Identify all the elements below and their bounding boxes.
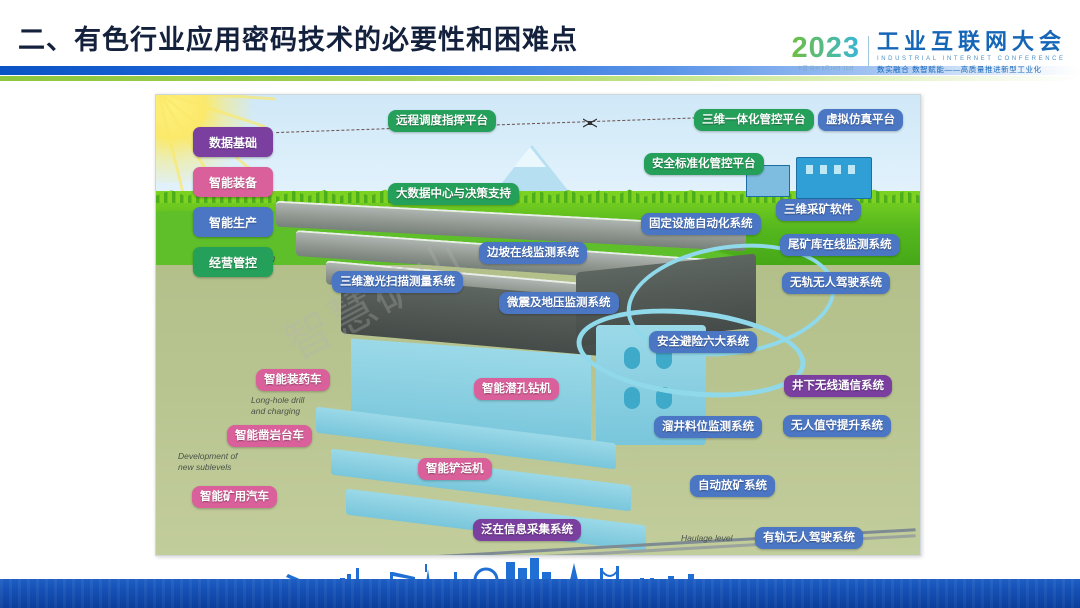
callout-label-text: 固定设施自动化系统 xyxy=(649,218,753,230)
callout-label-text: 智能潜孔钻机 xyxy=(482,383,551,395)
logo-year-block: 2023 中国·常州 8月14日-15日 xyxy=(791,34,860,72)
smart-mine-diagram: 智慧矿山 Caved hanging wall Long-hole drill … xyxy=(155,94,921,556)
callout-label[interactable]: 虚拟仿真平台 xyxy=(818,109,903,131)
logo-name-en: INDUSTRIAL INTERNET CONFERENCE xyxy=(877,56,1066,62)
page-title: 二、有色行业应用密码技术的必要性和困难点 xyxy=(18,18,578,57)
callout-label-text: 无人值守提升系统 xyxy=(791,420,883,432)
mountain-snow-cap xyxy=(514,147,546,167)
callout-label[interactable]: 固定设施自动化系统 xyxy=(641,213,761,235)
legend-chip-label: 智能生产 xyxy=(209,214,257,231)
callout-label[interactable]: 自动放矿系统 xyxy=(690,475,775,497)
callout-label-text: 三维一体化管控平台 xyxy=(702,114,806,126)
callout-label-text: 智能矿用汽车 xyxy=(200,491,269,503)
callout-label[interactable]: 尾矿库在线监测系统 xyxy=(780,234,900,256)
legend-chip-3[interactable]: 经营管控 xyxy=(193,247,273,277)
legend-chip-label: 智能装备 xyxy=(209,174,257,191)
shaft-window xyxy=(624,387,640,409)
footer-skyline-band xyxy=(0,556,1080,608)
callout-label-text: 智能凿岩台车 xyxy=(235,430,304,442)
building-window xyxy=(820,165,827,174)
callout-label-text: 微震及地压监测系统 xyxy=(507,297,611,309)
callout-label[interactable]: 智能装药车 xyxy=(256,369,330,391)
callout-label-text: 大数据中心与决策支持 xyxy=(396,188,511,200)
callout-label[interactable]: 无轨无人驾驶系统 xyxy=(782,272,890,294)
callout-label-text: 远程调度指挥平台 xyxy=(396,115,488,127)
logo-year: 2023 xyxy=(791,34,860,63)
callout-label-text: 有轨无人驾驶系统 xyxy=(763,532,855,544)
callout-label-text: 井下无线通信系统 xyxy=(792,380,884,392)
callout-label-text: 安全避险六大系统 xyxy=(657,336,749,348)
callout-label[interactable]: 大数据中心与决策支持 xyxy=(388,183,519,205)
callout-label[interactable]: 智能凿岩台车 xyxy=(227,425,312,447)
logo-name-block: 工业互联网大会 INDUSTRIAL INTERNET CONFERENCE 数… xyxy=(877,31,1066,75)
building-window xyxy=(806,165,813,174)
callout-label[interactable]: 三维采矿软件 xyxy=(776,199,861,221)
legend-chip-label: 经营管控 xyxy=(209,254,257,271)
callout-label-text: 智能装药车 xyxy=(264,374,322,386)
callout-label[interactable]: 三维一体化管控平台 xyxy=(694,109,814,131)
callout-label[interactable]: 智能矿用汽车 xyxy=(192,486,277,508)
legend-chip-2[interactable]: 智能生产 xyxy=(193,207,273,237)
callout-label-text: 边坡在线监测系统 xyxy=(487,247,579,259)
logo-name-cn: 工业互联网大会 xyxy=(877,31,1066,53)
callout-label[interactable]: 溜井料位监测系统 xyxy=(654,416,762,438)
callout-label-text: 智能铲运机 xyxy=(426,463,484,475)
callout-label-text: 自动放矿系统 xyxy=(698,480,767,492)
header-rule-green xyxy=(0,76,1080,81)
callout-label[interactable]: 泛在信息采集系统 xyxy=(473,519,581,541)
caption-new-sublevels: Development of new sublevels xyxy=(178,451,238,472)
slide-root: 二、有色行业应用密码技术的必要性和困难点 2023 中国·常州 8月14日-15… xyxy=(0,0,1080,608)
logo-divider xyxy=(868,36,869,70)
callout-label-text: 虚拟仿真平台 xyxy=(826,114,895,126)
logo-slogan: 数实融合 数智赋能——高质量推进新型工业化 xyxy=(877,64,1066,75)
legend-chip-label: 数据基础 xyxy=(209,134,257,151)
caption-long-hole-drill: Long-hole drill and charging xyxy=(251,395,304,416)
caption-haulage-level: Haulage level xyxy=(681,533,733,544)
surface-plant-building xyxy=(796,157,872,199)
callout-label[interactable]: 边坡在线监测系统 xyxy=(479,242,587,264)
callout-label[interactable]: 微震及地压监测系统 xyxy=(499,292,619,314)
callout-label-text: 安全标准化管控平台 xyxy=(652,158,756,170)
callout-label[interactable]: 远程调度指挥平台 xyxy=(388,110,496,132)
legend-chip-0[interactable]: 数据基础 xyxy=(193,127,273,157)
callout-label[interactable]: 智能铲运机 xyxy=(418,458,492,480)
logo-year-sub: 中国·常州 8月14日-15日 xyxy=(791,65,860,72)
callout-label-text: 溜井料位监测系统 xyxy=(662,421,754,433)
callout-label[interactable]: 智能潜孔钻机 xyxy=(474,378,559,400)
callout-label[interactable]: 井下无线通信系统 xyxy=(784,375,892,397)
drone-icon xyxy=(583,118,597,128)
callout-label-text: 三维激光扫描测量系统 xyxy=(340,276,455,288)
conference-logo: 2023 中国·常州 8月14日-15日 工业互联网大会 INDUSTRIAL … xyxy=(791,34,1066,72)
callout-label[interactable]: 安全避险六大系统 xyxy=(649,331,757,353)
callout-label-text: 无轨无人驾驶系统 xyxy=(790,277,882,289)
building-window xyxy=(834,165,841,174)
callout-label[interactable]: 无人值守提升系统 xyxy=(783,415,891,437)
callout-label[interactable]: 安全标准化管控平台 xyxy=(644,153,764,175)
callout-label-text: 三维采矿软件 xyxy=(784,204,853,216)
callout-label-text: 尾矿库在线监测系统 xyxy=(788,239,892,251)
callout-label[interactable]: 三维激光扫描测量系统 xyxy=(332,271,463,293)
callout-label-text: 泛在信息采集系统 xyxy=(481,524,573,536)
building-window xyxy=(848,165,855,174)
callout-label[interactable]: 有轨无人驾驶系统 xyxy=(755,527,863,549)
footer-water-band xyxy=(0,579,1080,608)
legend-chip-1[interactable]: 智能装备 xyxy=(193,167,273,197)
